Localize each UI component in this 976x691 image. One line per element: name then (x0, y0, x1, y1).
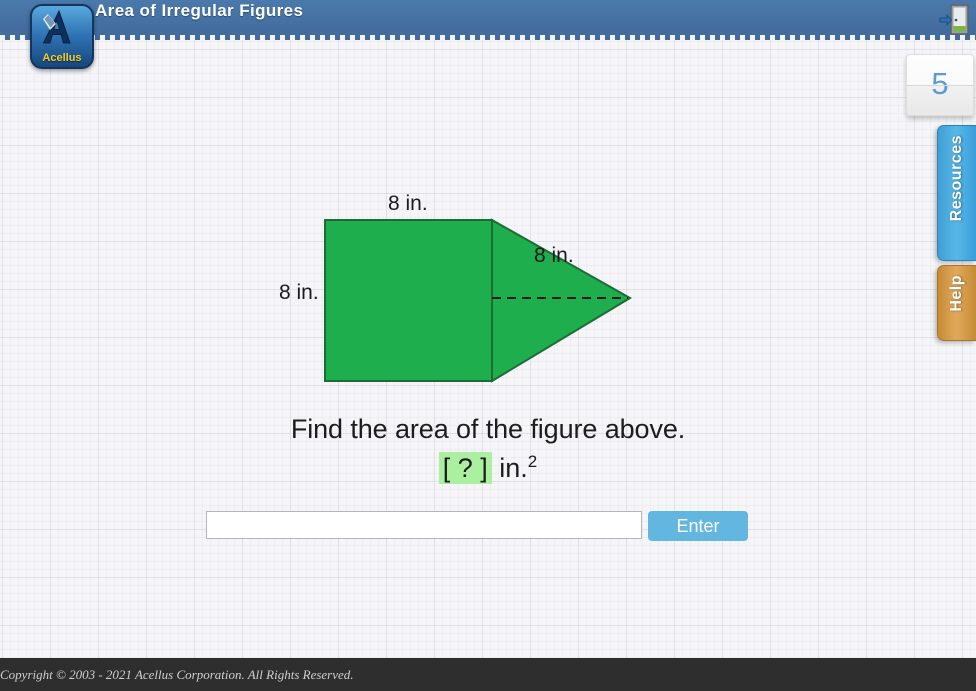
dimension-label-triangle-height: 8 in. (534, 244, 574, 268)
enter-button[interactable]: Enter (648, 511, 748, 541)
question-prompt: Find the area of the figure above. [ ? ]… (0, 414, 976, 484)
dimension-label-top: 8 in. (388, 192, 428, 216)
resources-tab-label: Resources (938, 126, 976, 230)
answer-row: Enter (206, 511, 751, 541)
square-part (325, 220, 492, 381)
app-footer: Copyright © 2003 - 2021 Acellus Corporat… (0, 658, 976, 691)
answer-unit: in. (492, 453, 528, 483)
help-tab[interactable]: Help (937, 265, 976, 341)
exit-door-icon[interactable] (938, 2, 972, 38)
acellus-a-icon (32, 6, 92, 48)
acellus-logo: Acellus (30, 4, 94, 69)
header-perforation-divider (0, 35, 976, 40)
app-header: Area of Irregular Figures (0, 0, 976, 40)
irregular-figure-svg (0, 150, 976, 405)
answer-format-line: [ ? ] in.2 (0, 452, 976, 484)
answer-unit-exponent: 2 (528, 452, 537, 471)
answer-input[interactable] (206, 511, 642, 539)
acellus-logo-text: Acellus (32, 52, 92, 64)
help-tab-label: Help (938, 266, 976, 321)
page-title: Area of Irregular Figures (95, 1, 303, 21)
question-counter: 5 (906, 54, 974, 116)
dimension-label-left: 8 in. (279, 281, 319, 305)
question-counter-value: 5 (907, 55, 973, 115)
resources-tab[interactable]: Resources (937, 125, 976, 261)
answer-blank-highlight: [ ? ] (439, 452, 492, 484)
geometry-figure: 8 in. 8 in. 8 in. (0, 150, 976, 405)
copyright-text: Copyright © 2003 - 2021 Acellus Corporat… (0, 667, 354, 683)
question-text: Find the area of the figure above. (0, 414, 976, 445)
